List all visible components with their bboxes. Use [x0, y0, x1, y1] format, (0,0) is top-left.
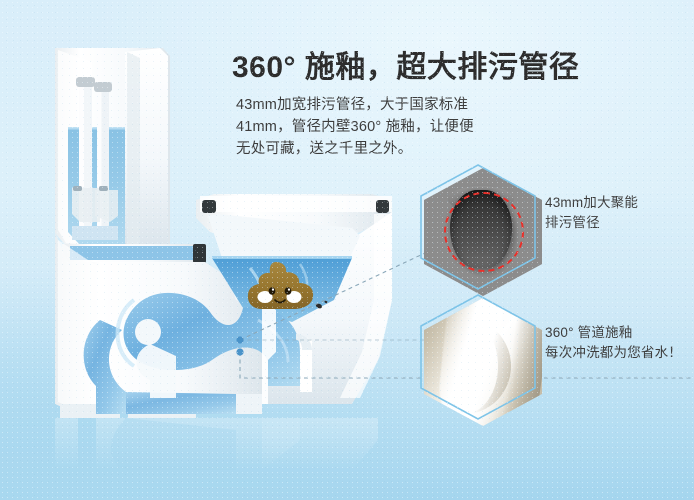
glazed-channel-photo [424, 298, 542, 426]
body-copy: 43mm加宽排污管径，大于国家标准 41mm，管径内壁360° 施釉，让便便 无… [236, 94, 536, 160]
toilet-reflection [55, 418, 378, 470]
page-title: 360° 施釉，超大排污管径 [232, 42, 579, 86]
callout-top-line-1: 43mm加大聚能 [545, 193, 638, 213]
body-line-1: 43mm加宽排污管径，大于国家标准 [236, 94, 536, 116]
callout-text-pipe-diameter: 43mm加大聚能 排污管径 [545, 193, 638, 233]
callout-pipe-glaze [424, 298, 542, 426]
callout-pipe-diameter [424, 168, 542, 296]
infographic-stage: 360° 施釉，超大排污管径 43mm加宽排污管径，大于国家标准 41mm，管径… [0, 0, 694, 500]
callout-bottom-line-1: 360° 管道施釉 [545, 323, 682, 343]
body-line-2: 41mm，管径内壁360° 施釉，让便便 [236, 116, 536, 138]
callout-text-pipe-glaze: 360° 管道施釉 每次冲洗都为您省水！ [545, 323, 682, 363]
callout-top-line-2: 排污管径 [545, 213, 638, 233]
highlight-circle [444, 192, 524, 272]
toilet-tank [55, 48, 170, 248]
callout-bottom-line-2: 每次冲洗都为您省水！ [545, 343, 682, 363]
body-line-3: 无处可藏，送之千里之外。 [236, 138, 536, 160]
